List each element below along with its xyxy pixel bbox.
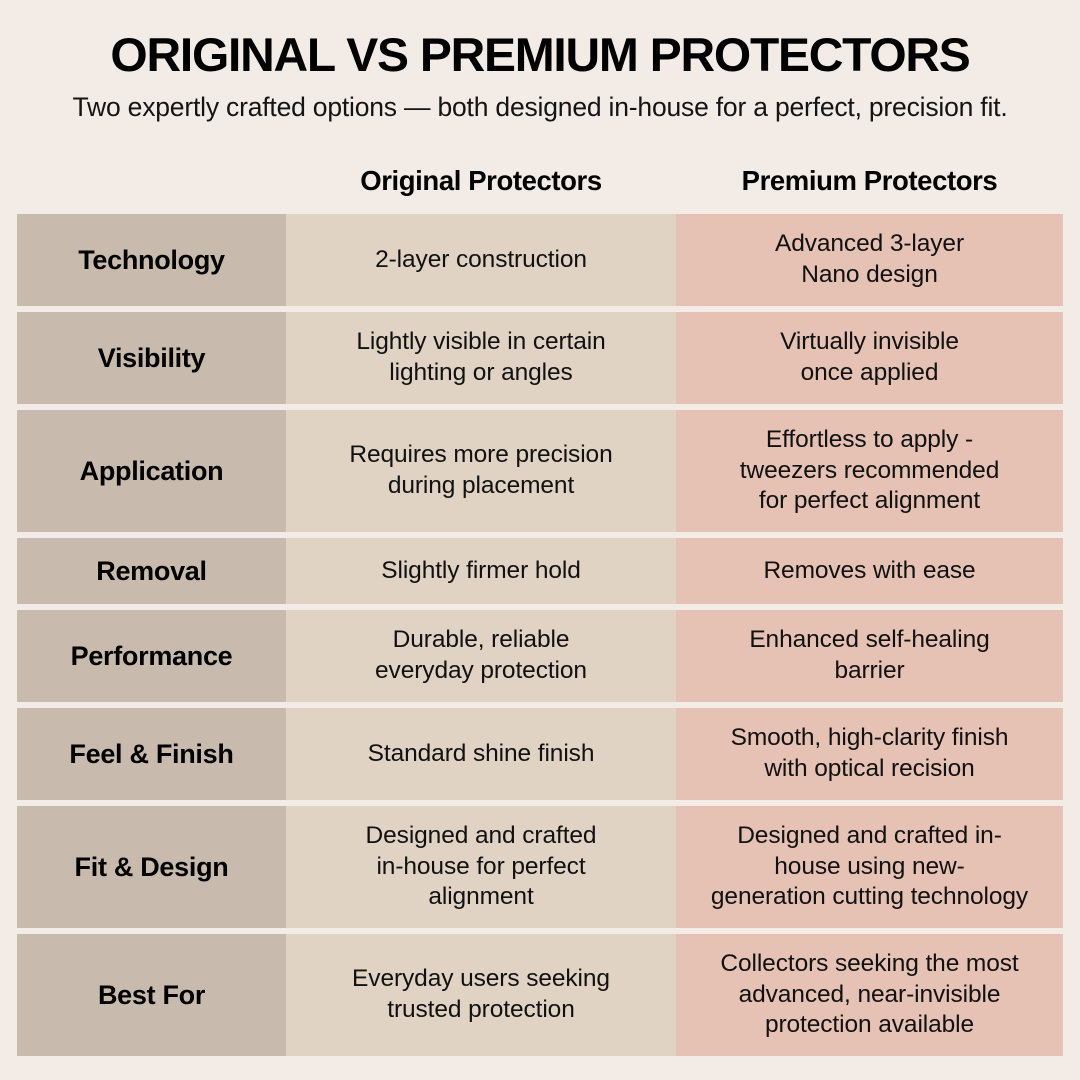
comparison-infographic: ORIGINAL VS PREMIUM PROTECTORS Two exper… — [0, 0, 1080, 1080]
table-cell-original: Standard shine finish — [286, 708, 676, 800]
table-cell-original-text: Slightly firmer hold — [381, 556, 581, 587]
table-cell-original: 2-layer construction — [286, 214, 676, 306]
page-title: ORIGINAL VS PREMIUM PROTECTORS — [0, 30, 1080, 79]
table-cell-original: Lightly visible in certain lighting or a… — [286, 312, 676, 404]
table-cell-premium-text: Virtually invisible once applied — [780, 327, 959, 389]
table-cell-original-text: Everyday users seeking trusted protectio… — [352, 964, 610, 1026]
table-row: ApplicationRequires more precision durin… — [17, 410, 1063, 532]
table-row: RemovalSlightly firmer holdRemoves with … — [17, 538, 1063, 604]
column-header-row: Original Protectors Premium Protectors — [17, 167, 1063, 209]
table-cell-premium: Advanced 3-layer Nano design — [676, 214, 1063, 306]
table-cell-original: Everyday users seeking trusted protectio… — [286, 934, 676, 1056]
table-cell-feature-text: Application — [80, 456, 224, 487]
table-cell-feature-text: Best For — [98, 980, 205, 1011]
column-header-original: Original Protectors — [286, 167, 676, 209]
table-cell-feature-text: Visibility — [98, 343, 206, 374]
table-cell-feature: Best For — [17, 934, 286, 1056]
table-row: Fit & DesignDesigned and crafted in-hous… — [17, 806, 1063, 928]
table-cell-premium: Virtually invisible once applied — [676, 312, 1063, 404]
table-cell-premium-text: Removes with ease — [763, 556, 975, 587]
table-cell-feature-text: Feel & Finish — [69, 739, 233, 770]
table-cell-premium-text: Effortless to apply - tweezers recommend… — [740, 425, 999, 518]
table-cell-premium: Collectors seeking the most advanced, ne… — [676, 934, 1063, 1056]
column-header-premium: Premium Protectors — [676, 167, 1063, 209]
table-cell-feature: Fit & Design — [17, 806, 286, 928]
table-cell-original-text: Requires more precision during placement — [349, 440, 612, 502]
column-header-spacer — [17, 167, 286, 209]
table-cell-original: Slightly firmer hold — [286, 538, 676, 604]
table-cell-premium-text: Smooth, high-clarity finish with optical… — [731, 723, 1009, 785]
table-row: Feel & FinishStandard shine finishSmooth… — [17, 708, 1063, 800]
table-cell-original-text: Lightly visible in certain lighting or a… — [356, 327, 605, 389]
table-row: Best ForEveryday users seeking trusted p… — [17, 934, 1063, 1056]
table-cell-original-text: Standard shine finish — [368, 739, 595, 770]
table-cell-feature: Technology — [17, 214, 286, 306]
header-block: ORIGINAL VS PREMIUM PROTECTORS Two exper… — [0, 0, 1080, 124]
table-cell-premium: Designed and crafted in- house using new… — [676, 806, 1063, 928]
table-row: VisibilityLightly visible in certain lig… — [17, 312, 1063, 404]
table-cell-premium: Removes with ease — [676, 538, 1063, 604]
table-cell-feature: Feel & Finish — [17, 708, 286, 800]
table-cell-premium-text: Enhanced self-healing barrier — [749, 625, 989, 687]
table-cell-feature: Application — [17, 410, 286, 532]
comparison-table: Technology2-layer constructionAdvanced 3… — [17, 214, 1063, 1056]
table-cell-premium-text: Designed and crafted in- house using new… — [711, 821, 1028, 914]
table-cell-original: Requires more precision during placement — [286, 410, 676, 532]
page-subtitle: Two expertly crafted options — both desi… — [60, 91, 1020, 124]
table-cell-feature: Removal — [17, 538, 286, 604]
table-cell-original-text: Durable, reliable everyday protection — [375, 625, 587, 687]
table-cell-original: Designed and crafted in-house for perfec… — [286, 806, 676, 928]
table-row: Technology2-layer constructionAdvanced 3… — [17, 214, 1063, 306]
table-cell-feature-text: Performance — [71, 641, 233, 672]
table-cell-feature: Performance — [17, 610, 286, 702]
table-cell-premium: Enhanced self-healing barrier — [676, 610, 1063, 702]
table-cell-premium: Effortless to apply - tweezers recommend… — [676, 410, 1063, 532]
table-cell-original: Durable, reliable everyday protection — [286, 610, 676, 702]
table-cell-feature-text: Removal — [96, 556, 206, 587]
table-cell-premium-text: Advanced 3-layer Nano design — [775, 229, 964, 291]
table-cell-premium-text: Collectors seeking the most advanced, ne… — [720, 949, 1018, 1042]
table-cell-original-text: Designed and crafted in-house for perfec… — [366, 821, 597, 914]
table-cell-feature: Visibility — [17, 312, 286, 404]
table-cell-feature-text: Fit & Design — [75, 852, 229, 883]
table-cell-feature-text: Technology — [78, 245, 225, 276]
table-cell-original-text: 2-layer construction — [375, 245, 587, 276]
table-row: PerformanceDurable, reliable everyday pr… — [17, 610, 1063, 702]
table-cell-premium: Smooth, high-clarity finish with optical… — [676, 708, 1063, 800]
